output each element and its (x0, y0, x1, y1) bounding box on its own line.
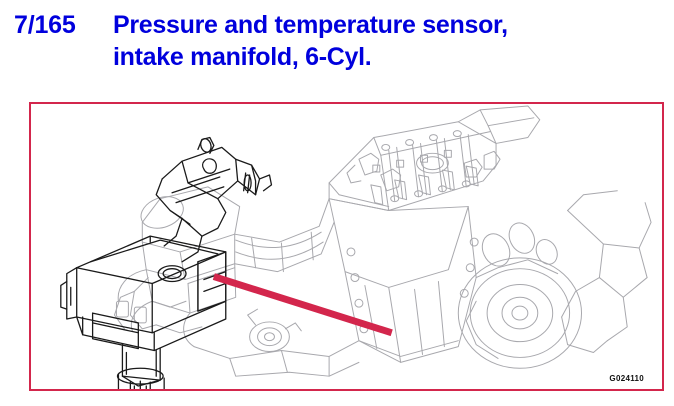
title-line-1: Pressure and temperature sensor, (113, 10, 508, 40)
service-manual-page: 7/165 Pressure and temperature sensor, i… (0, 0, 674, 406)
figure-illustration (31, 104, 662, 389)
page-title: 7/165 Pressure and temperature sensor, i… (0, 0, 674, 88)
figure-frame: G024110 (29, 102, 664, 391)
title-line-2-row: intake manifold, 6-Cyl. (0, 42, 674, 76)
title-line-2: intake manifold, 6-Cyl. (113, 42, 371, 72)
title-line-1-row: 7/165 Pressure and temperature sensor, (0, 10, 674, 44)
pressure-temperature-sensor-drawing (61, 137, 272, 389)
figure-reference-code: G024110 (609, 374, 644, 383)
document-number: 7/165 (14, 10, 76, 40)
inline-6-engine-drawing (114, 106, 651, 376)
